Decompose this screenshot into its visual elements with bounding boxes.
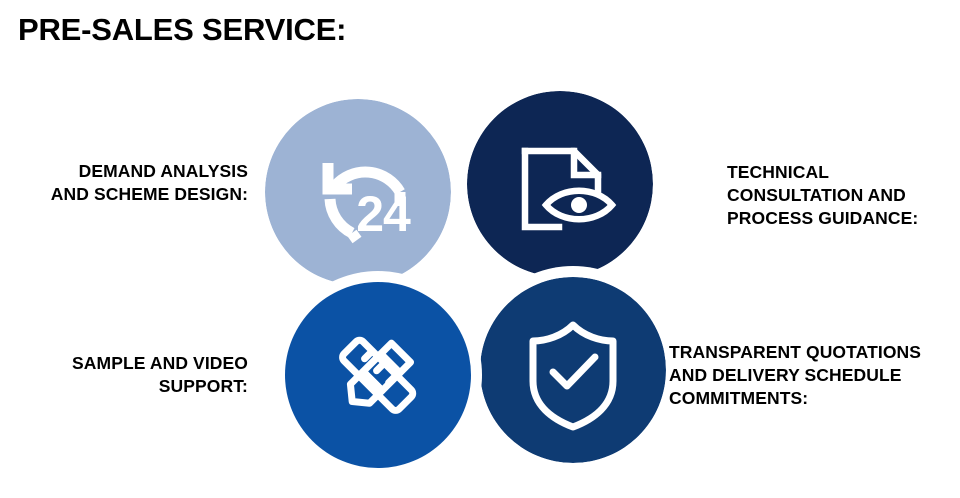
label-sample-video-support: SAMPLE AND VIDEO SUPPORT: <box>0 352 248 398</box>
document-eye-pupil-icon <box>571 197 587 213</box>
label-technical-consultation: TECHNICAL CONSULTATION AND PROCESS GUIDA… <box>727 161 957 230</box>
circle-cluster-svg: 24 <box>0 0 960 498</box>
label-demand-analysis: DEMAND ANALYSIS AND SCHEME DESIGN: <box>0 160 248 206</box>
circle-transparent-quotations-fill <box>480 277 666 463</box>
label-transparent-quotations: TRANSPARENT QUOTATIONS AND DELIVERY SCHE… <box>669 341 960 410</box>
clock-24-icon-label: 24 <box>356 186 411 242</box>
circle-transparent-quotations[interactable] <box>480 277 666 463</box>
circle-technical-consultation[interactable] <box>467 91 653 277</box>
circle-sample-video-support-fill <box>285 282 471 468</box>
circle-demand-analysis[interactable]: 24 <box>265 99 451 285</box>
circle-cluster: 24 <box>0 0 960 498</box>
circle-technical-consultation-fill <box>467 91 653 277</box>
circle-sample-video-support[interactable] <box>285 282 471 468</box>
